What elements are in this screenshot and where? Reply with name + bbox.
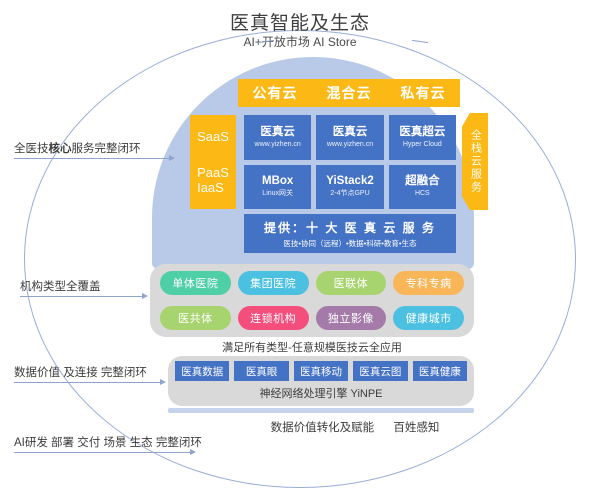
side-label-rule-3 — [14, 382, 160, 383]
side-label-arrow-2 — [142, 293, 148, 299]
card-subtitle: www.yizhen.cn — [255, 141, 301, 149]
data-product-chip[interactable]: 医真云图 — [353, 361, 407, 381]
product-card[interactable]: 超融合 HCS — [389, 165, 456, 210]
neural-engine-label: 神经网络处理引擎 YiNPE — [259, 385, 382, 401]
bottom-accent-bar — [168, 408, 474, 413]
card-subtitle: www.yizhen.cn — [327, 141, 373, 149]
institution-pill[interactable]: 医联体 — [316, 271, 387, 295]
side-label-text: 机构类型全覆盖 — [20, 281, 101, 293]
bottom-caption-left: 数据价值转化及赋能 — [271, 422, 375, 434]
card-title: 超融合 — [405, 175, 440, 188]
service-model-column: SaaS PaaS IaaS — [190, 115, 236, 209]
institution-pill[interactable]: 集团医院 — [238, 271, 309, 295]
services-subtitle: 医技•协同（远程）•数据•科研•教育•生态 — [283, 238, 416, 249]
side-label-text2: 服务完整闭环 — [72, 143, 141, 155]
product-card[interactable]: 医真超云 Hyper Cloud — [389, 115, 456, 160]
side-label-rule-2 — [20, 296, 142, 297]
card-title: 医真云 — [260, 126, 295, 139]
product-card[interactable]: 医真云 www.yizhen.cn — [316, 115, 383, 160]
side-label-arrow-1 — [169, 155, 175, 161]
data-products-box: 医真数据 医真眼 医真移动 医真云图 医真健康 神经网络处理引擎 YiNPE — [168, 356, 474, 406]
bottom-caption: 数据价值转化及赋能 百姓感知 — [190, 419, 520, 435]
product-card[interactable]: YiStack2 2-4节点GPU — [316, 165, 383, 210]
service-model-iaas: IaaS — [197, 180, 224, 195]
card-title: MBox — [262, 175, 293, 188]
side-label-bold: 核心 — [49, 143, 72, 155]
data-product-chip[interactable]: 医真眼 — [234, 361, 288, 381]
institution-pill[interactable]: 医共体 — [160, 306, 231, 330]
side-label-text: 数据价值 及连接 完整闭环 — [14, 367, 147, 379]
page-subtitle: AI+开放市场 AI Store — [0, 33, 600, 50]
side-label-data-value: 数据价值 及连接 完整闭环 — [14, 364, 147, 380]
institution-pill[interactable]: 连锁机构 — [238, 306, 309, 330]
full-stack-cloud-service-chevron: 全栈云服务 — [462, 113, 488, 210]
service-model-paas: PaaS — [197, 165, 229, 180]
data-product-chip-row: 医真数据 医真眼 医真移动 医真云图 医真健康 — [175, 361, 467, 381]
side-label-core-service: 全医技核心服务完整闭环 — [14, 140, 141, 156]
side-label-rule-1 — [14, 158, 169, 159]
side-label-institution-coverage: 机构类型全覆盖 — [20, 278, 101, 294]
page-title: 医真智能及生态 — [0, 8, 600, 35]
side-label-arrow-3 — [160, 379, 166, 385]
institution-pill[interactable]: 专科专病 — [393, 271, 464, 295]
card-title: YiStack2 — [326, 175, 374, 188]
cloud-type-bar: 公有云 混合云 私有云 — [238, 79, 460, 107]
diagram-canvas: 医真智能及生态 AI+开放市场 AI Store 公有云 混合云 私有云 Saa… — [0, 0, 600, 497]
side-label-text: 全医技 — [14, 143, 49, 155]
product-card[interactable]: 医真云 www.yizhen.cn — [244, 115, 311, 160]
data-product-chip[interactable]: 医真数据 — [175, 361, 229, 381]
services-title: 提供：十 大 医 真 云 服 务 — [264, 219, 436, 236]
card-subtitle: Hyper Cloud — [403, 141, 442, 149]
side-label-rule-4 — [14, 452, 190, 453]
card-title: 医真超云 — [399, 126, 445, 139]
side-label-arrow-4 — [190, 449, 196, 455]
institution-pill[interactable]: 健康城市 — [393, 306, 464, 330]
side-label-text: AI研发 部署 交付 场景 生态 完整闭环 — [14, 437, 202, 449]
data-product-chip[interactable]: 医真健康 — [413, 361, 467, 381]
ten-cloud-services-bar: 提供：十 大 医 真 云 服 务 医技•协同（远程）•数据•科研•教育•生态 — [244, 214, 456, 253]
service-model-paas-iaas: PaaS IaaS — [197, 165, 229, 195]
bottom-caption-right: 百姓感知 — [393, 422, 439, 434]
service-model-saas: SaaS — [197, 129, 229, 144]
cloud-type-hybrid[interactable]: 混合云 — [327, 83, 372, 103]
card-subtitle: 2-4节点GPU — [330, 190, 369, 198]
cloud-type-private[interactable]: 私有云 — [401, 83, 446, 103]
institution-row-1: 单体医院 集团医院 医联体 专科专病 — [160, 271, 464, 295]
product-card-grid: 医真云 www.yizhen.cn 医真云 www.yizhen.cn 医真超云… — [244, 115, 456, 209]
institution-pill[interactable]: 独立影像 — [316, 306, 387, 330]
card-subtitle: HCS — [415, 190, 430, 198]
coverage-caption: 满足所有类型-任意规模医技云全应用 — [150, 339, 474, 355]
institution-row-2: 医共体 连锁机构 独立影像 健康城市 — [160, 306, 464, 330]
cloud-type-public[interactable]: 公有云 — [253, 83, 298, 103]
product-card[interactable]: MBox Linux网关 — [244, 165, 311, 210]
card-title: 医真云 — [333, 126, 368, 139]
institution-pill[interactable]: 单体医院 — [160, 271, 231, 295]
side-label-ai-lifecycle: AI研发 部署 交付 场景 生态 完整闭环 — [14, 434, 202, 450]
card-subtitle: Linux网关 — [262, 190, 293, 198]
chevron-label: 全栈云服务 — [469, 129, 482, 194]
data-product-chip[interactable]: 医真移动 — [294, 361, 348, 381]
institution-types-box: 单体医院 集团医院 医联体 专科专病 医共体 连锁机构 独立影像 健康城市 — [150, 264, 474, 337]
